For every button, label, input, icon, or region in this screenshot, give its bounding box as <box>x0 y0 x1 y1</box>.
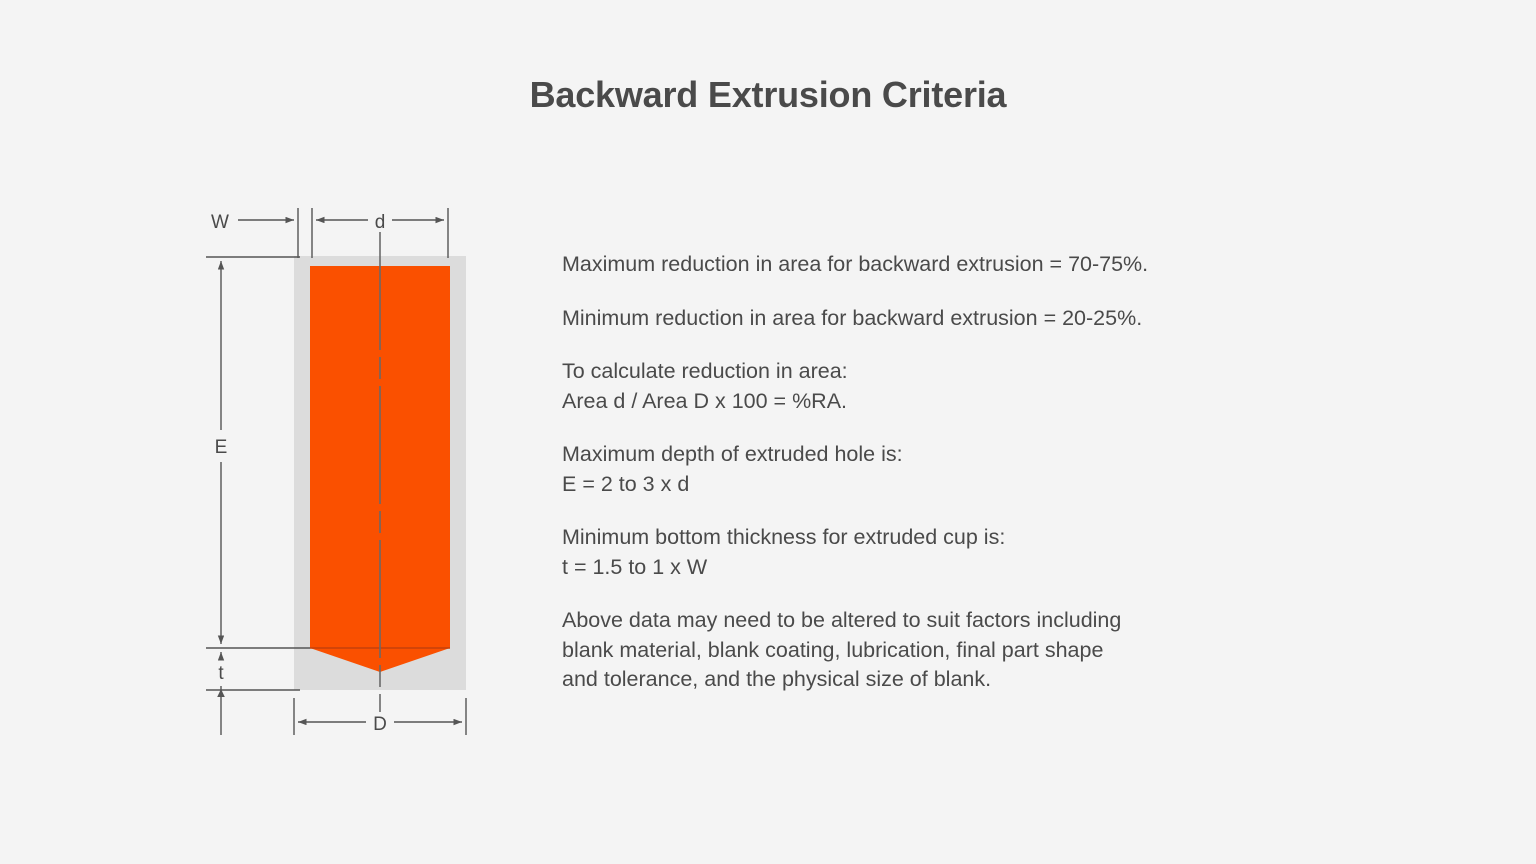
extrusion-diagram-svg: W d E t D <box>0 0 540 864</box>
dimension-label-d: d <box>375 212 386 233</box>
dimension-label-e: E <box>215 437 228 458</box>
criteria-paragraph: Maximum reduction in area for backward e… <box>562 250 1362 280</box>
slide-root: Backward Extrusion Criteria <box>0 0 1536 864</box>
dimension-label-t: t <box>218 663 224 684</box>
criteria-text-block: Maximum reduction in area for backward e… <box>562 250 1362 695</box>
extrusion-diagram: W d E t D <box>0 0 540 864</box>
criteria-paragraph: Minimum reduction in area for backward e… <box>562 304 1362 334</box>
criteria-paragraph: To calculate reduction in area: Area d /… <box>562 357 1362 416</box>
dimension-label-w: W <box>211 212 229 233</box>
criteria-paragraph: Above data may need to be altered to sui… <box>562 606 1362 695</box>
criteria-paragraph: Maximum depth of extruded hole is: E = 2… <box>562 440 1362 499</box>
dimension-label-D: D <box>373 714 387 735</box>
criteria-paragraph: Minimum bottom thickness for extruded cu… <box>562 523 1362 582</box>
